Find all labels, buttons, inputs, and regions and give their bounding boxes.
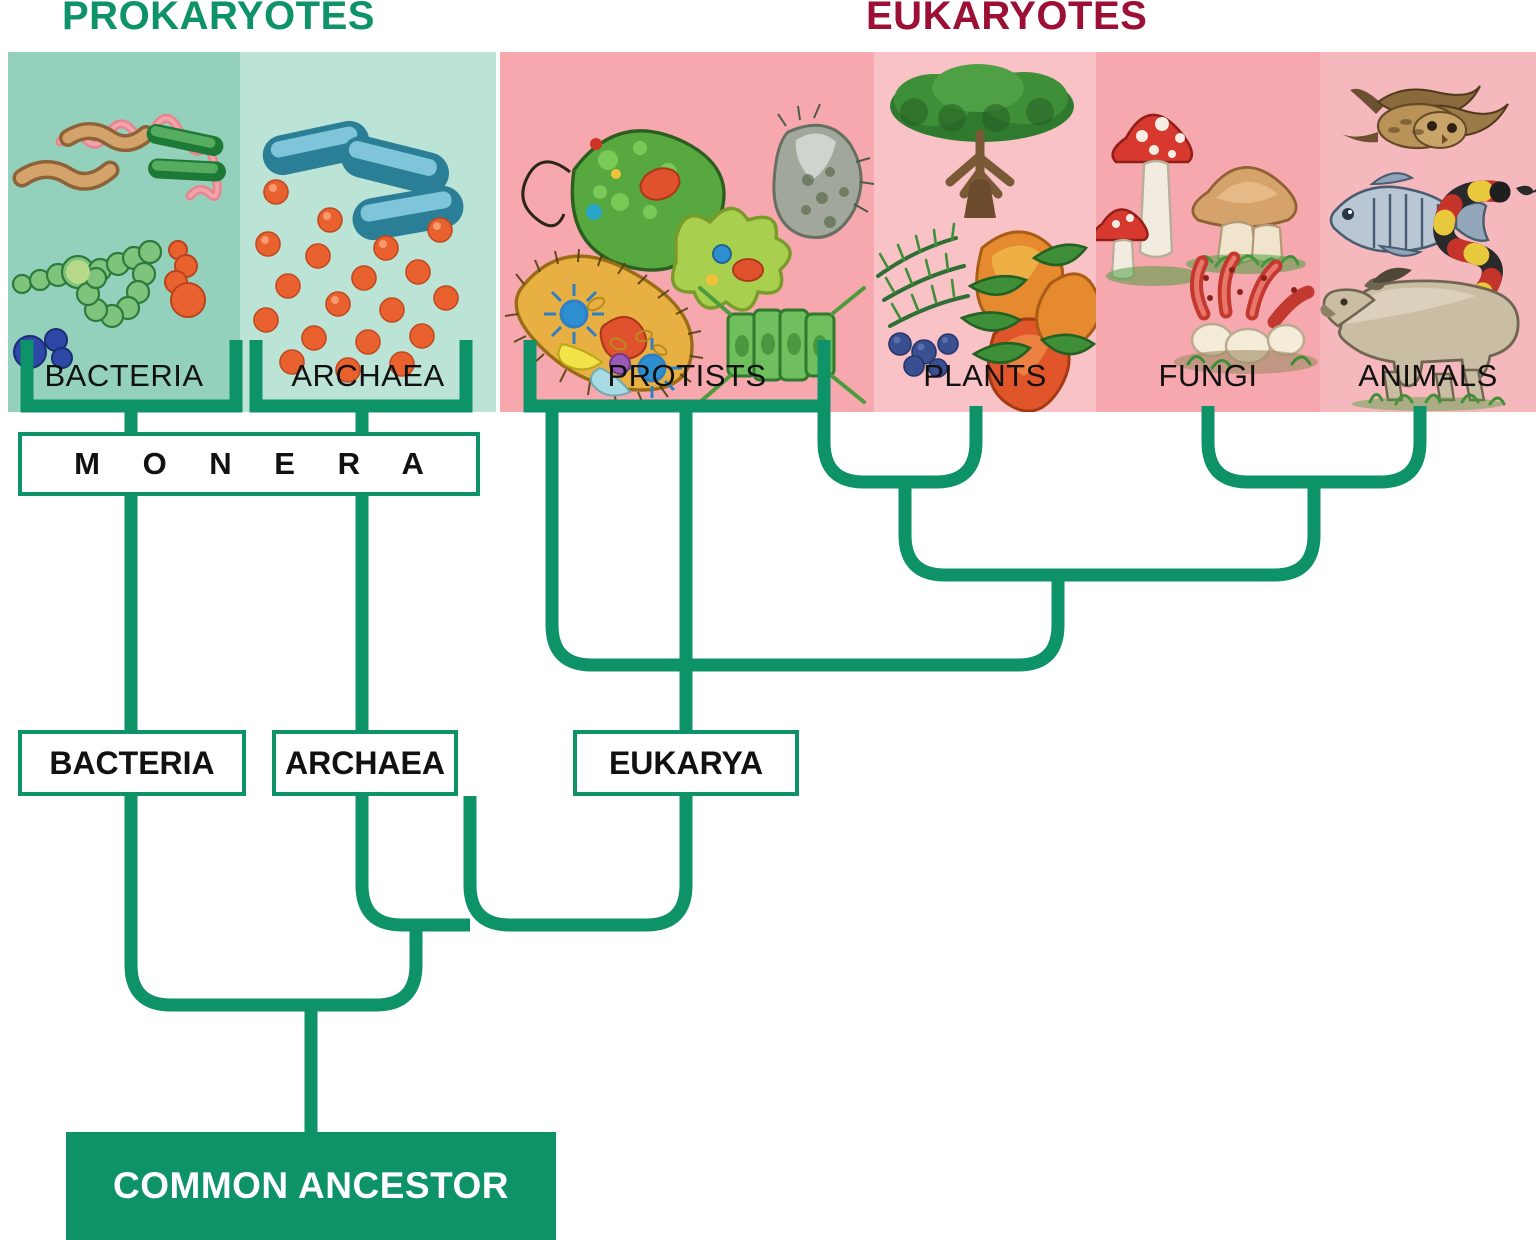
branch-protists-left: [552, 406, 686, 665]
taxon-box-archaea-domain[interactable]: ARCHAEA: [272, 730, 458, 796]
phylogenetic-tree-lines: [0, 0, 1536, 1240]
branch-crown-to-eukarya: [686, 575, 1058, 665]
join-archaea-eukarya: [362, 796, 470, 925]
taxon-box-monera[interactable]: M O N E R A: [18, 432, 480, 496]
bracket-protists: [530, 340, 824, 406]
taxon-box-eukarya-domain[interactable]: EUKARYA: [573, 730, 799, 796]
taxon-box-bacteria-domain[interactable]: BACTERIA: [18, 730, 246, 796]
join-plants-with-fungi-animals: [905, 482, 1314, 575]
join-protists-right-to-plants: [824, 406, 976, 482]
join-fungi-animals: [1208, 406, 1420, 482]
join-bacteria-with-rest: [131, 796, 416, 1005]
bracket-bacteria: [27, 340, 236, 406]
bracket-archaea: [256, 340, 466, 406]
stem-eukarya-down: [470, 796, 686, 925]
common-ancestor-box[interactable]: COMMON ANCESTOR: [66, 1132, 556, 1240]
